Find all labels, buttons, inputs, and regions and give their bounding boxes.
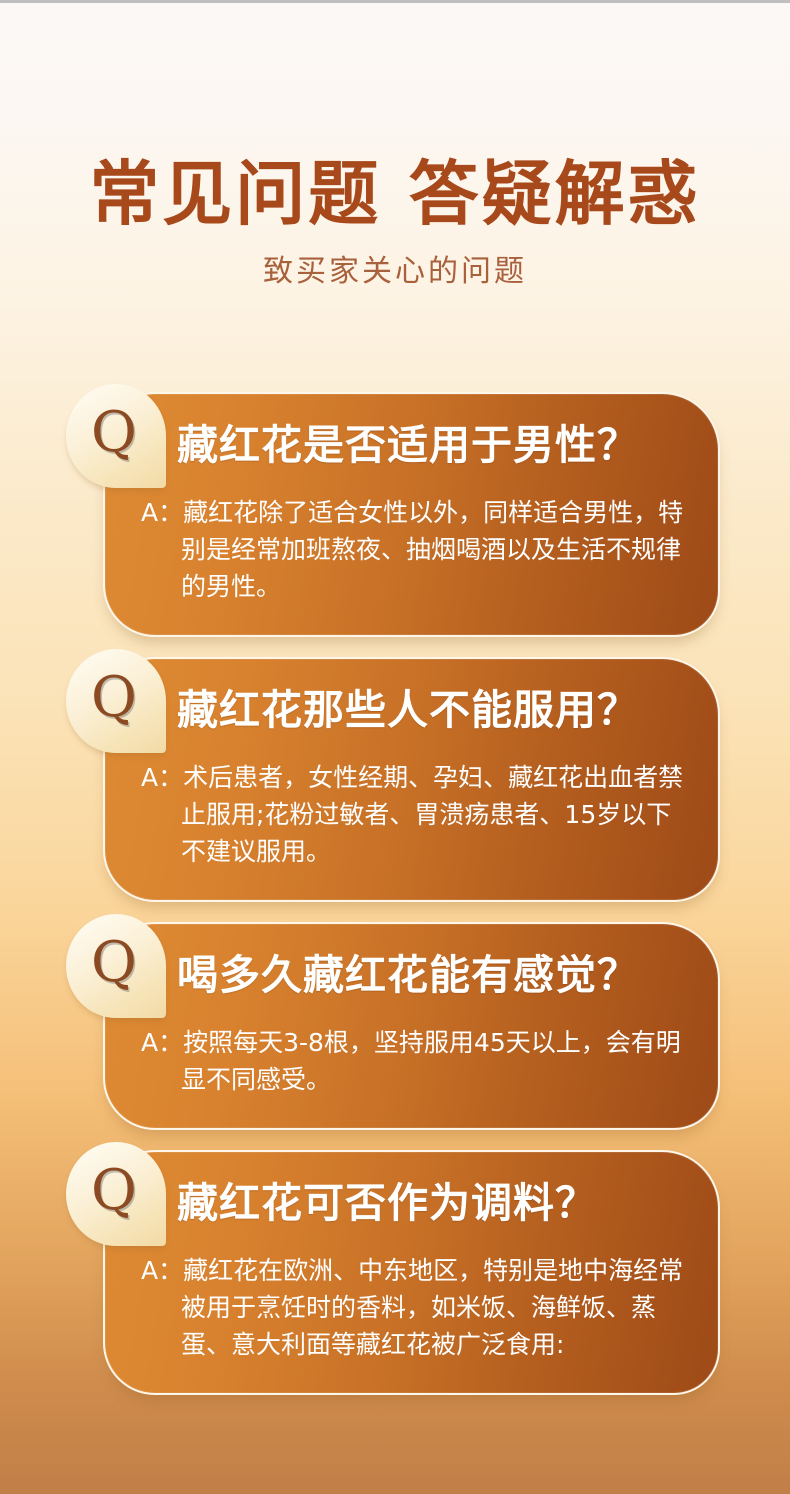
badge-letter: Q xyxy=(66,1142,166,1246)
faq-page: 常见问题 答疑解惑 致买家关心的问题 Q 藏红花是否适用于男性？ A：藏红花除了… xyxy=(0,0,790,1494)
question-badge-icon: Q xyxy=(66,384,166,488)
faq-question: 藏红花那些人不能服用？ xyxy=(177,683,692,737)
faq-answer: A：藏红花除了适合女性以外，同样适合男性，特别是经常加班熬夜、抽烟喝酒以及生活不… xyxy=(141,494,692,605)
faq-answer: A：藏红花在欧洲、中东地区，特别是地中海经常被用于烹饪时的香料，如米饭、海鲜饭、… xyxy=(141,1252,692,1363)
faq-card[interactable]: 藏红花可否作为调料？ A：藏红花在欧洲、中东地区，特别是地中海经常被用于烹饪时的… xyxy=(103,1150,720,1395)
page-title: 常见问题 答疑解惑 xyxy=(0,148,790,240)
faq-question: 藏红花是否适用于男性？ xyxy=(177,418,692,472)
faq-card[interactable]: 喝多久藏红花能有感觉？ A：按照每天3-8根，坚持服用45天以上，会有明显不同感… xyxy=(103,922,720,1130)
faq-answer: A：按照每天3-8根，坚持服用45天以上，会有明显不同感受。 xyxy=(141,1024,692,1098)
faq-answer: A：术后患者，女性经期、孕妇、藏红花出血者禁止服用;花粉过敏者、胃溃疡患者、15… xyxy=(141,759,692,870)
question-badge-icon: Q xyxy=(66,914,166,1018)
faq-item[interactable]: Q 藏红花是否适用于男性？ A：藏红花除了适合女性以外，同样适合男性，特别是经常… xyxy=(0,392,790,637)
faq-question: 喝多久藏红花能有感觉？ xyxy=(177,948,692,1002)
question-badge-icon: Q xyxy=(66,649,166,753)
faq-list: Q 藏红花是否适用于男性？ A：藏红花除了适合女性以外，同样适合男性，特别是经常… xyxy=(0,392,790,1415)
faq-card[interactable]: 藏红花是否适用于男性？ A：藏红花除了适合女性以外，同样适合男性，特别是经常加班… xyxy=(103,392,720,637)
faq-item[interactable]: Q 藏红花可否作为调料？ A：藏红花在欧洲、中东地区，特别是地中海经常被用于烹饪… xyxy=(0,1150,790,1395)
badge-letter: Q xyxy=(66,914,166,1018)
question-badge-icon: Q xyxy=(66,1142,166,1246)
badge-letter: Q xyxy=(66,384,166,488)
page-header: 常见问题 答疑解惑 致买家关心的问题 xyxy=(0,148,790,292)
faq-item[interactable]: Q 喝多久藏红花能有感觉？ A：按照每天3-8根，坚持服用45天以上，会有明显不… xyxy=(0,922,790,1130)
faq-question: 藏红花可否作为调料？ xyxy=(177,1176,692,1230)
badge-letter: Q xyxy=(66,649,166,753)
page-subtitle: 致买家关心的问题 xyxy=(0,252,790,292)
faq-card[interactable]: 藏红花那些人不能服用？ A：术后患者，女性经期、孕妇、藏红花出血者禁止服用;花粉… xyxy=(103,657,720,902)
top-divider xyxy=(0,0,790,3)
faq-item[interactable]: Q 藏红花那些人不能服用？ A：术后患者，女性经期、孕妇、藏红花出血者禁止服用;… xyxy=(0,657,790,902)
